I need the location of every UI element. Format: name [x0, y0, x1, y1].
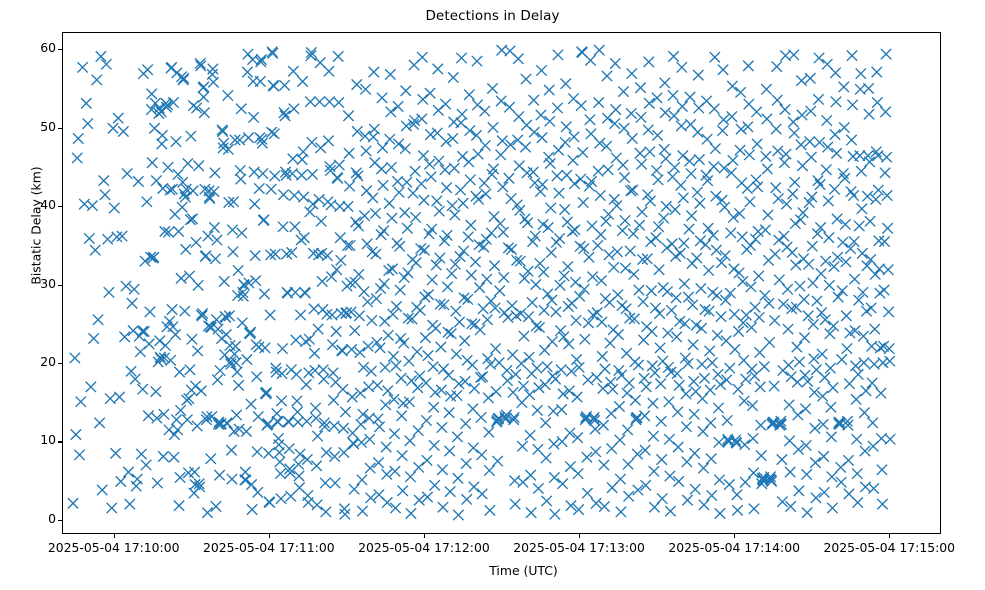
scatter-marker — [456, 53, 466, 63]
scatter-marker — [339, 504, 349, 514]
scatter-marker — [114, 392, 124, 402]
scatter-marker — [400, 208, 410, 218]
scatter-marker — [326, 272, 336, 282]
page-title: Detections in Delay — [0, 8, 985, 24]
scatter-marker — [813, 94, 823, 104]
scatter-marker — [673, 442, 683, 452]
plot-area — [62, 32, 941, 534]
scatter-marker — [437, 465, 447, 475]
scatter-marker — [311, 461, 321, 471]
scatter-marker — [247, 54, 257, 64]
scatter-marker — [802, 508, 812, 518]
scatter-marker — [496, 150, 506, 160]
scatter-marker — [516, 308, 526, 318]
scatter-marker — [266, 184, 276, 194]
scatter-marker — [499, 272, 509, 282]
scatter-marker — [751, 107, 761, 117]
scatter-marker — [393, 101, 403, 111]
scatter-marker — [716, 311, 726, 321]
scatter-marker — [614, 401, 624, 411]
scatter-marker — [787, 247, 797, 257]
scatter-marker — [342, 240, 352, 250]
scatter-marker — [230, 341, 240, 351]
scatter-marker — [816, 268, 826, 278]
scatter-marker — [245, 327, 255, 337]
scatter-marker — [613, 290, 623, 300]
scatter-marker — [404, 356, 414, 366]
scatter-marker — [434, 156, 444, 166]
scatter-marker — [395, 285, 405, 295]
scatter-points-layer — [63, 33, 940, 533]
scatter-marker — [307, 169, 317, 179]
scatter-marker — [836, 477, 846, 487]
scatter-marker — [261, 389, 271, 399]
scatter-marker — [756, 420, 766, 430]
scatter-marker — [728, 212, 738, 222]
scatter-marker — [561, 122, 571, 132]
scatter-marker — [147, 89, 157, 99]
scatter-marker — [291, 335, 301, 345]
scatter-marker — [265, 310, 275, 320]
scatter-marker — [882, 223, 892, 233]
scatter-marker — [373, 414, 383, 424]
scatter-marker — [541, 453, 551, 463]
scatter-marker — [555, 280, 565, 290]
scatter-marker — [545, 116, 555, 126]
scatter-marker — [556, 365, 566, 375]
scatter-marker — [157, 130, 167, 140]
scatter-marker — [761, 84, 771, 94]
scatter-marker — [406, 508, 416, 518]
scatter-marker — [245, 329, 255, 339]
scatter-marker — [650, 303, 660, 313]
scatter-marker — [794, 357, 804, 367]
scatter-marker — [269, 81, 279, 91]
scatter-marker — [252, 447, 262, 457]
scatter-marker — [455, 185, 465, 195]
scatter-marker — [143, 411, 153, 421]
scatter-marker — [570, 277, 580, 287]
scatter-marker — [553, 145, 563, 155]
scatter-marker — [405, 472, 415, 482]
scatter-marker — [81, 98, 91, 108]
scatter-marker — [486, 228, 496, 238]
scatter-marker — [158, 183, 168, 193]
scatter-marker — [674, 380, 684, 390]
scatter-marker — [871, 194, 881, 204]
scatter-marker — [428, 402, 438, 412]
scatter-marker — [458, 246, 468, 256]
scatter-marker — [139, 326, 149, 336]
scatter-marker — [649, 466, 659, 476]
scatter-marker — [345, 240, 355, 250]
scatter-marker — [625, 246, 635, 256]
scatter-marker — [594, 97, 604, 107]
scatter-marker — [879, 285, 889, 295]
scatter-marker — [387, 264, 397, 274]
scatter-marker — [330, 478, 340, 488]
scatter-marker — [517, 441, 527, 451]
scatter-marker — [676, 180, 686, 190]
scatter-marker — [872, 97, 882, 107]
scatter-marker — [181, 244, 191, 254]
scatter-marker — [827, 503, 837, 513]
scatter-marker — [295, 449, 305, 459]
scatter-marker — [540, 418, 550, 428]
scatter-marker — [482, 274, 492, 284]
scatter-marker — [182, 415, 192, 425]
scatter-marker — [136, 449, 146, 459]
scatter-marker — [475, 325, 485, 335]
scatter-marker — [121, 281, 131, 291]
scatter-marker — [338, 423, 348, 433]
scatter-marker — [714, 475, 724, 485]
scatter-marker — [805, 73, 815, 83]
scatter-marker — [877, 465, 887, 475]
scatter-marker — [620, 215, 630, 225]
scatter-marker — [788, 117, 798, 127]
scatter-marker — [700, 240, 710, 250]
scatter-marker — [391, 361, 401, 371]
scatter-marker — [489, 261, 499, 271]
scatter-marker — [538, 267, 548, 277]
scatter-marker — [321, 507, 331, 517]
scatter-marker — [460, 418, 470, 428]
scatter-marker — [610, 118, 620, 128]
scatter-marker — [480, 106, 490, 116]
scatter-marker — [681, 389, 691, 399]
scatter-marker — [350, 325, 360, 335]
scatter-marker — [653, 175, 663, 185]
scatter-marker — [389, 429, 399, 439]
scatter-marker — [418, 150, 428, 160]
scatter-marker — [375, 283, 385, 293]
scatter-marker — [641, 382, 651, 392]
scatter-marker — [521, 74, 531, 84]
scatter-marker — [490, 343, 500, 353]
scatter-marker — [598, 383, 608, 393]
scatter-marker — [199, 82, 209, 92]
scatter-marker — [187, 334, 197, 344]
scatter-marker — [436, 342, 446, 352]
scatter-marker — [793, 410, 803, 420]
scatter-marker — [447, 200, 457, 210]
scatter-marker — [196, 386, 206, 396]
scatter-marker — [323, 136, 333, 146]
scatter-marker — [542, 289, 552, 299]
scatter-marker — [422, 492, 432, 502]
scatter-marker — [755, 347, 765, 357]
scatter-marker — [192, 346, 202, 356]
scatter-marker — [692, 187, 702, 197]
scatter-marker — [327, 340, 337, 350]
scatter-marker — [828, 383, 838, 393]
scatter-marker — [432, 196, 442, 206]
x-axis-tick-marks — [0, 534, 985, 538]
scatter-marker — [122, 168, 132, 178]
scatter-marker — [634, 220, 644, 230]
scatter-marker — [488, 122, 498, 132]
scatter-marker — [372, 380, 382, 390]
scatter-marker — [171, 415, 181, 425]
scatter-marker — [367, 247, 377, 257]
scatter-marker — [453, 473, 463, 483]
scatter-marker — [714, 437, 724, 447]
scatter-marker — [547, 336, 557, 346]
scatter-marker — [831, 97, 841, 107]
scatter-marker — [258, 168, 268, 178]
scatter-marker — [800, 404, 810, 414]
scatter-marker — [674, 476, 684, 486]
scatter-marker — [594, 45, 604, 55]
scatter-marker — [125, 499, 135, 509]
scatter-marker — [597, 317, 607, 327]
scatter-marker — [873, 185, 883, 195]
scatter-marker — [604, 250, 614, 260]
scatter-marker — [377, 143, 387, 153]
scatter-marker — [380, 362, 390, 372]
scatter-marker — [288, 154, 298, 164]
scatter-marker — [434, 206, 444, 216]
scatter-marker — [550, 509, 560, 519]
scatter-marker — [411, 258, 421, 268]
scatter-marker — [483, 393, 493, 403]
scatter-marker — [564, 339, 574, 349]
scatter-marker — [586, 176, 596, 186]
scatter-marker — [304, 334, 314, 344]
scatter-marker — [699, 373, 709, 383]
scatter-marker — [862, 191, 872, 201]
scatter-marker — [547, 295, 557, 305]
scatter-marker — [355, 347, 365, 357]
scatter-marker — [97, 485, 107, 495]
scatter-marker — [684, 156, 694, 166]
scatter-marker — [89, 333, 99, 343]
scatter-marker — [880, 107, 890, 117]
scatter-marker — [198, 92, 208, 102]
scatter-marker — [477, 489, 487, 499]
scatter-marker — [504, 173, 514, 183]
scatter-marker — [174, 500, 184, 510]
scatter-marker — [703, 265, 713, 275]
scatter-marker — [607, 384, 617, 394]
scatter-marker — [812, 296, 822, 306]
scatter-marker — [615, 435, 625, 445]
scatter-marker — [790, 218, 800, 228]
scatter-marker — [617, 225, 627, 235]
scatter-marker — [524, 390, 534, 400]
scatter-marker — [481, 189, 491, 199]
scatter-marker — [685, 92, 695, 102]
scatter-marker — [422, 455, 432, 465]
scatter-marker — [681, 422, 691, 432]
scatter-marker — [637, 207, 647, 217]
scatter-marker — [404, 397, 414, 407]
scatter-marker — [792, 342, 802, 352]
y-tick-label: 30 — [10, 278, 56, 290]
scatter-marker — [852, 468, 862, 478]
scatter-marker — [399, 272, 409, 282]
scatter-marker — [794, 486, 804, 496]
scatter-marker — [414, 495, 424, 505]
scatter-marker — [155, 336, 165, 346]
scatter-marker — [773, 146, 783, 156]
scatter-marker — [211, 501, 221, 511]
scatter-marker — [882, 190, 892, 200]
scatter-marker — [138, 384, 148, 394]
scatter-marker — [309, 348, 319, 358]
scatter-marker — [864, 109, 874, 119]
scatter-marker — [813, 175, 823, 185]
scatter-marker — [853, 497, 863, 507]
scatter-marker — [219, 276, 229, 286]
scatter-marker — [842, 343, 852, 353]
scatter-marker — [504, 102, 514, 112]
scatter-marker — [76, 397, 86, 407]
scatter-marker — [665, 506, 675, 516]
scatter-marker — [340, 407, 350, 417]
scatter-marker — [715, 508, 725, 518]
scatter-marker — [713, 369, 723, 379]
scatter-marker — [835, 418, 845, 428]
scatter-marker — [284, 417, 294, 427]
scatter-marker — [381, 442, 391, 452]
scatter-marker — [672, 407, 682, 417]
scatter-marker — [372, 337, 382, 347]
scatter-marker — [137, 326, 147, 336]
scatter-marker — [856, 68, 866, 78]
scatter-marker — [659, 144, 669, 154]
scatter-marker — [518, 381, 528, 391]
scatter-marker — [771, 183, 781, 193]
scatter-marker — [797, 110, 807, 120]
scatter-marker — [741, 374, 751, 384]
scatter-marker — [661, 201, 671, 211]
scatter-marker — [403, 268, 413, 278]
scatter-marker — [73, 133, 83, 143]
scatter-marker — [690, 484, 700, 494]
scatter-marker — [549, 472, 559, 482]
scatter-marker — [147, 158, 157, 168]
scatter-marker — [471, 130, 481, 140]
scatter-marker — [592, 308, 602, 318]
scatter-marker — [278, 222, 288, 232]
scatter-marker — [569, 132, 579, 142]
scatter-marker — [465, 175, 475, 185]
scatter-marker — [815, 179, 825, 189]
scatter-marker — [190, 381, 200, 391]
scatter-marker — [857, 204, 867, 214]
scatter-marker — [839, 122, 849, 132]
scatter-marker — [479, 242, 489, 252]
scatter-marker — [260, 343, 270, 353]
scatter-marker — [394, 187, 404, 197]
scatter-marker — [340, 509, 350, 519]
scatter-marker — [312, 500, 322, 510]
scatter-marker — [622, 425, 632, 435]
scatter-marker — [686, 168, 696, 178]
scatter-marker — [678, 193, 688, 203]
scatter-marker — [317, 276, 327, 286]
scatter-marker — [408, 188, 418, 198]
scatter-marker — [108, 123, 118, 133]
scatter-marker — [574, 291, 584, 301]
scatter-marker — [590, 447, 600, 457]
scatter-marker — [428, 361, 438, 371]
scatter-marker — [183, 158, 193, 168]
scatter-marker — [791, 260, 801, 270]
scatter-marker — [359, 286, 369, 296]
scatter-marker — [838, 237, 848, 247]
scatter-marker — [572, 392, 582, 402]
scatter-marker — [822, 115, 832, 125]
scatter-marker — [496, 96, 506, 106]
scatter-marker — [537, 133, 547, 143]
scatter-marker — [437, 422, 447, 432]
scatter-marker — [545, 158, 555, 168]
scatter-marker — [377, 93, 387, 103]
scatter-marker — [400, 143, 410, 153]
scatter-marker — [109, 203, 119, 213]
scatter-marker — [756, 450, 766, 460]
scatter-marker — [732, 490, 742, 500]
scatter-marker — [415, 305, 425, 315]
scatter-marker — [677, 62, 687, 72]
scatter-marker — [523, 311, 533, 321]
scatter-marker — [657, 493, 667, 503]
scatter-marker — [669, 111, 679, 121]
scatter-marker — [329, 421, 339, 431]
scatter-marker — [799, 294, 809, 304]
scatter-marker — [425, 88, 435, 98]
scatter-marker — [885, 356, 895, 366]
scatter-marker — [290, 222, 300, 232]
scatter-marker — [870, 269, 880, 279]
scatter-marker — [214, 470, 224, 480]
scatter-marker — [305, 97, 315, 107]
scatter-marker — [847, 50, 857, 60]
scatter-marker — [690, 448, 700, 458]
scatter-marker — [438, 502, 448, 512]
scatter-marker — [192, 421, 202, 431]
scatter-marker — [524, 352, 534, 362]
scatter-marker — [447, 268, 457, 278]
scatter-marker — [142, 65, 152, 75]
scatter-marker — [623, 459, 633, 469]
scatter-marker — [495, 286, 505, 296]
scatter-marker — [573, 468, 583, 478]
scatter-marker — [827, 472, 837, 482]
scatter-marker — [771, 124, 781, 134]
scatter-marker — [664, 397, 674, 407]
scatter-marker — [264, 497, 274, 507]
scatter-marker — [531, 321, 541, 331]
y-tick-label: 0 — [10, 513, 56, 525]
scatter-marker — [313, 324, 323, 334]
scatter-marker — [560, 137, 570, 147]
scatter-marker — [622, 388, 632, 398]
scatter-marker — [721, 375, 731, 385]
scatter-marker — [211, 315, 221, 325]
scatter-marker — [366, 493, 376, 503]
scatter-marker — [346, 344, 356, 354]
scatter-marker — [267, 47, 277, 57]
scatter-marker — [571, 315, 581, 325]
scatter-marker — [371, 293, 381, 303]
scatter-marker — [725, 363, 735, 373]
scatter-marker — [772, 61, 782, 71]
scatter-marker — [627, 68, 637, 78]
